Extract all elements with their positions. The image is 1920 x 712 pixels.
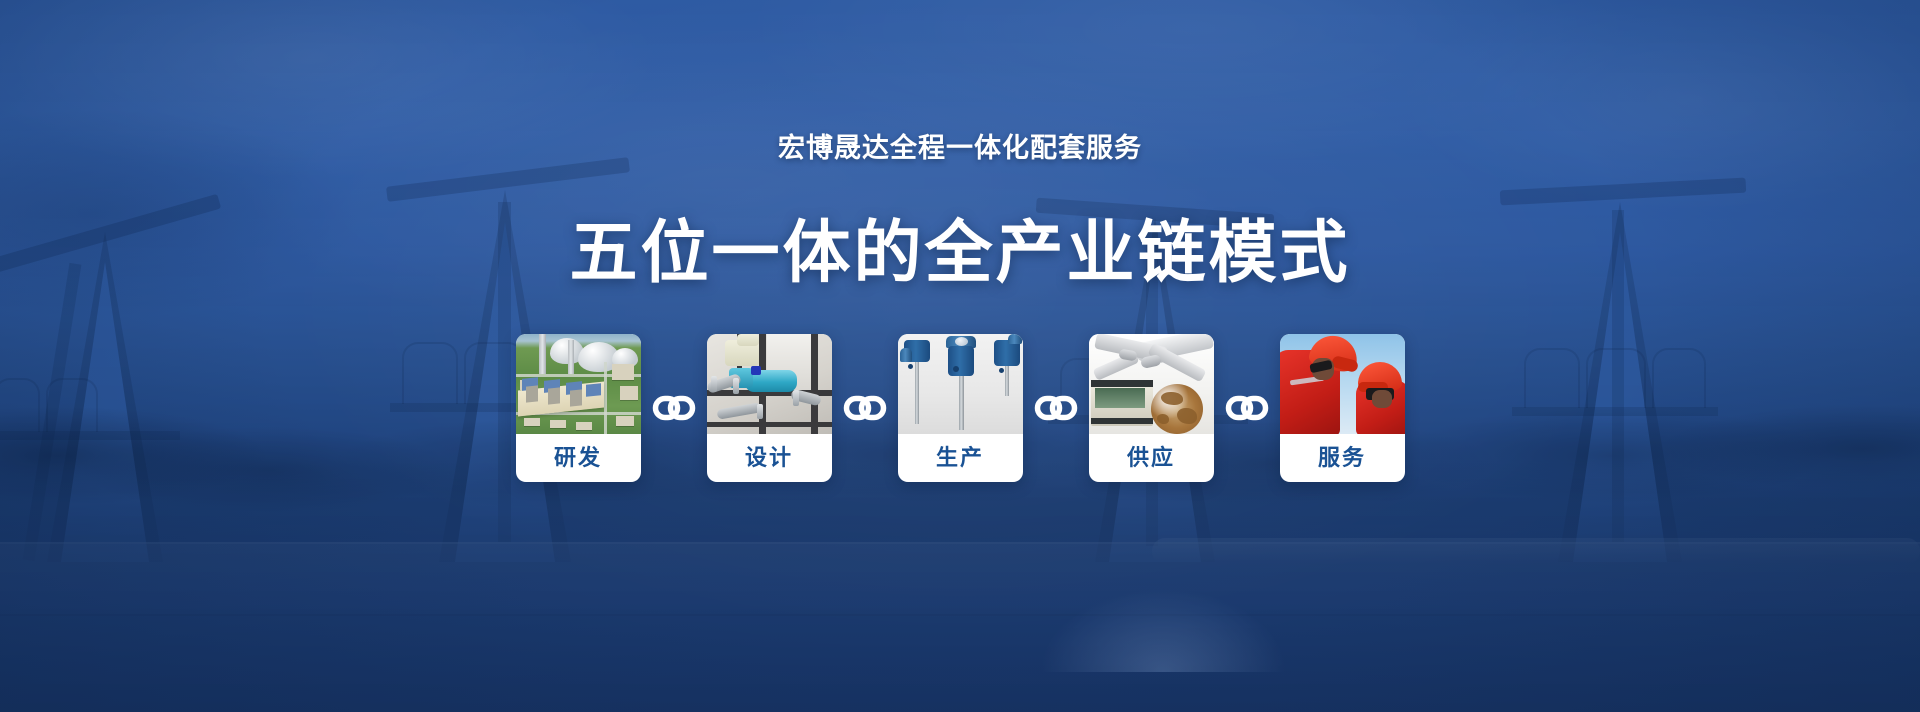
- chain-card-supply[interactable]: 供应: [1089, 334, 1214, 482]
- chain-connector-2: [832, 334, 898, 482]
- hero-banner: 宏博晟达全程一体化配套服务 五位一体的全产业链模式: [0, 0, 1920, 712]
- chain-connector-4: [1214, 334, 1280, 482]
- chain-card-rd[interactable]: 研发: [516, 334, 641, 482]
- chain-card-design[interactable]: 设计: [707, 334, 832, 482]
- value-chain-row: 研发: [0, 334, 1920, 482]
- chain-card-service-label: 服务: [1280, 434, 1405, 482]
- chain-card-service-thumbnail: [1280, 334, 1405, 434]
- chain-card-production-thumbnail: [898, 334, 1023, 434]
- chain-link-icon: [843, 395, 887, 421]
- chain-card-design-thumbnail: [707, 334, 832, 434]
- banner-headline: 五位一体的全产业链模式: [0, 214, 1920, 292]
- chain-card-supply-thumbnail: [1089, 334, 1214, 434]
- chain-link-icon: [652, 395, 696, 421]
- chain-card-design-label: 设计: [707, 434, 832, 482]
- chain-connector-3: [1023, 334, 1089, 482]
- chain-card-rd-thumbnail: [516, 334, 641, 434]
- chain-connector-1: [641, 334, 707, 482]
- banner-subtitle: 宏博晟达全程一体化配套服务: [0, 126, 1920, 165]
- chain-card-production-label: 生产: [898, 434, 1023, 482]
- chain-card-service[interactable]: 服务: [1280, 334, 1405, 482]
- chain-link-icon: [1225, 395, 1269, 421]
- chain-card-supply-label: 供应: [1089, 434, 1214, 482]
- chain-link-icon: [1034, 395, 1078, 421]
- chain-card-rd-label: 研发: [516, 434, 641, 482]
- chain-card-production[interactable]: 生产: [898, 334, 1023, 482]
